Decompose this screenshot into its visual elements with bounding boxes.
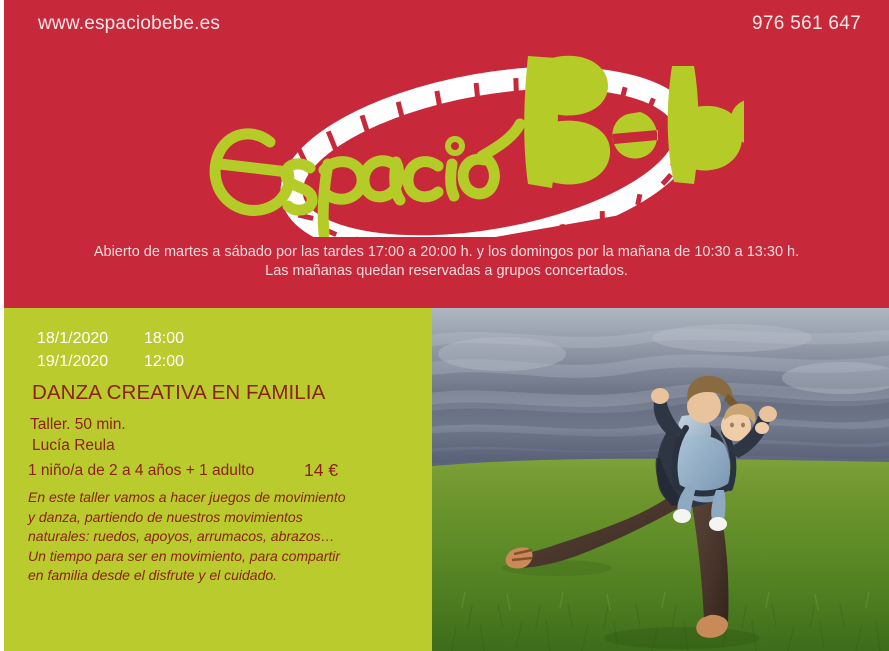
logo-word-bebe xyxy=(524,52,744,188)
session-time: 18:00 xyxy=(144,327,184,350)
flyer-page: www.espaciobebe.es 976 561 647 xyxy=(0,0,889,651)
session-list: 18/1/2020 18:00 19/1/2020 12:00 xyxy=(4,327,432,373)
opening-hours: Abierto de martes a sábado por las tarde… xyxy=(4,243,889,281)
espacio-bebe-logo[interactable] xyxy=(184,42,744,237)
phone-number[interactable]: 976 561 647 xyxy=(752,13,861,35)
opening-hours-line-1: Abierto de martes a sábado por las tarde… xyxy=(4,243,889,262)
activity-title: DANZA CREATIVA EN FAMILIA xyxy=(32,381,325,405)
session-date: 18/1/2020 xyxy=(37,327,108,350)
description-line: en familia desde el disfrute y el cuidad… xyxy=(28,566,418,586)
activity-teacher: Lucía Reula xyxy=(32,437,115,455)
activity-description: En este taller vamos a hacer juegos de m… xyxy=(28,488,418,586)
description-line: y danza, partiendo de nuestros movimient… xyxy=(28,508,418,528)
description-line: En este taller vamos a hacer juegos de m… xyxy=(28,488,418,508)
session-row: 19/1/2020 12:00 xyxy=(4,350,432,373)
activity-price: 14 € xyxy=(304,460,338,481)
description-line: Un tiempo para ser en movimiento, para c… xyxy=(28,547,418,567)
header-contact-bar: www.espaciobebe.es 976 561 647 xyxy=(4,13,889,39)
site-url-link[interactable]: www.espaciobebe.es xyxy=(38,13,220,35)
session-row: 18/1/2020 18:00 xyxy=(4,327,432,350)
opening-hours-line-2: Las mañanas quedan reservadas a grupos c… xyxy=(4,262,889,281)
session-date: 19/1/2020 xyxy=(37,350,108,373)
header-banner: www.espaciobebe.es 976 561 647 xyxy=(4,0,889,308)
description-line: naturales: ruedos, apoyos, arrumacos, ab… xyxy=(28,527,418,547)
lower-section: 18/1/2020 18:00 19/1/2020 12:00 DANZA CR… xyxy=(4,308,889,651)
activity-kind-duration: Taller. 50 min. xyxy=(30,416,126,434)
activity-audience: 1 niño/a de 2 a 4 años + 1 adulto xyxy=(28,462,254,480)
logo-word-espacio xyxy=(215,124,520,234)
activity-photo xyxy=(432,308,889,651)
session-time: 12:00 xyxy=(144,350,184,373)
event-info-panel: 18/1/2020 18:00 19/1/2020 12:00 DANZA CR… xyxy=(4,308,432,651)
